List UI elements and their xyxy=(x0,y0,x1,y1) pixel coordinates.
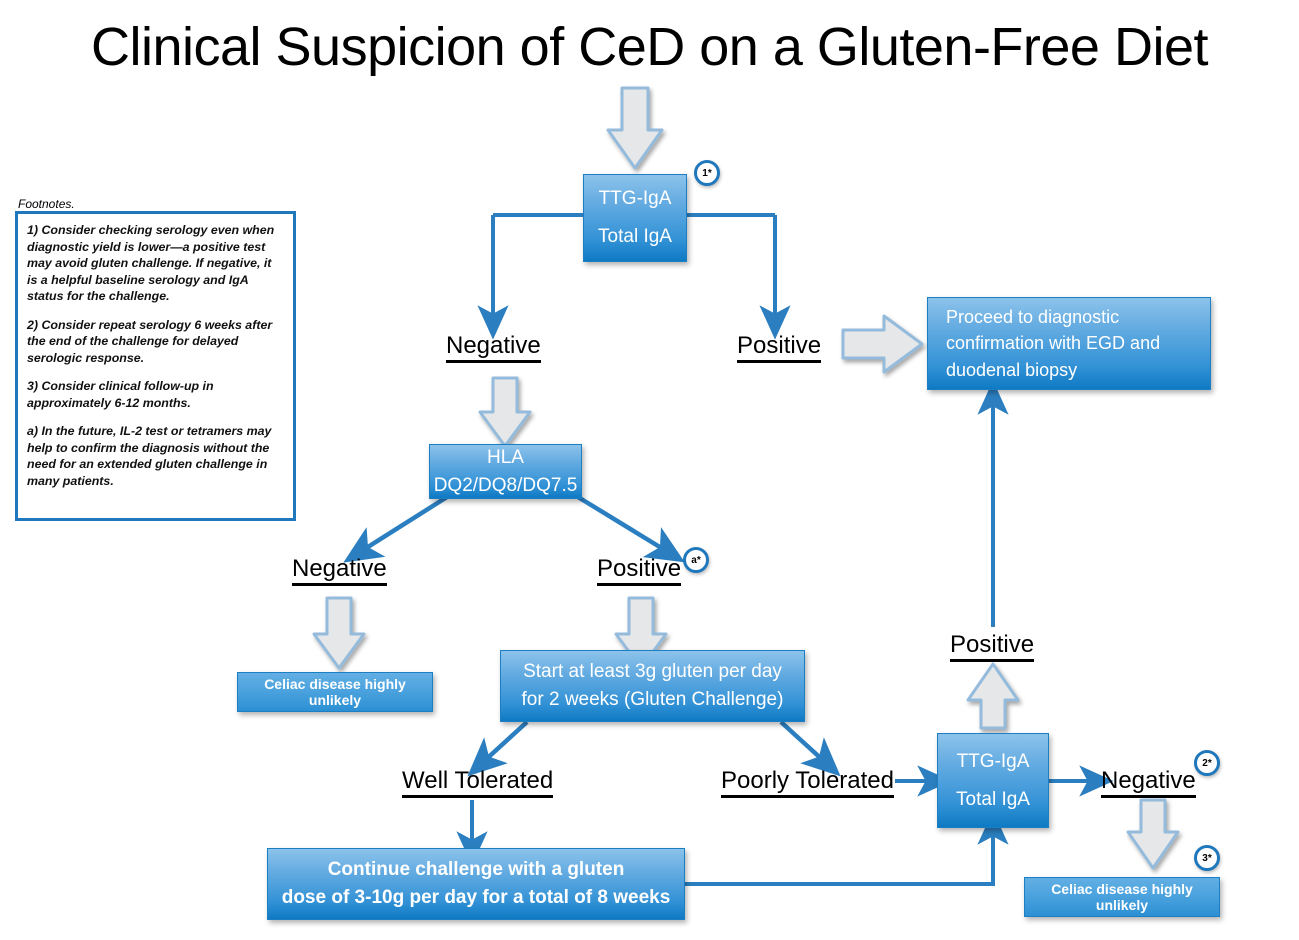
block-arrow-negative-to-unlikely-right xyxy=(1128,800,1178,868)
node-challenge-line1: Start at least 3g gluten per day xyxy=(523,658,782,686)
label-ttg-positive: Positive xyxy=(737,333,821,363)
node-challenge-line2: for 2 weeks (Gluten Challenge) xyxy=(522,686,784,714)
footnote-item-3: 3) Consider clinical follow-up in approx… xyxy=(27,378,284,411)
node-ttg-bottom-line2: Total IgA xyxy=(956,786,1030,814)
footnote-item-1: 1) Consider checking serology even when … xyxy=(27,222,284,305)
node-celiac-unlikely-left[interactable]: Celiac disease highly unlikely xyxy=(237,672,433,712)
footnotes-panel: 1) Consider checking serology even when … xyxy=(15,211,296,521)
label-ttg-negative: Negative xyxy=(446,333,541,363)
block-arrow-negative-to-hla xyxy=(480,378,530,446)
node-continue-line1: Continue challenge with a gluten xyxy=(328,856,625,884)
label-well-tolerated: Well Tolerated xyxy=(402,768,553,798)
node-hla-line2: DQ2/DQ8/DQ7.5 xyxy=(434,472,578,500)
page-title: Clinical Suspicion of CeD on a Gluten-Fr… xyxy=(0,16,1299,78)
node-ttg-iga-bottom[interactable]: TTG-IgA Total IgA xyxy=(937,733,1049,828)
node-celiac-unlikely-right[interactable]: Celiac disease highly unlikely xyxy=(1024,877,1220,917)
connector-continue-loop-to-ttg xyxy=(685,828,993,884)
flowchart-canvas: Clinical Suspicion of CeD on a Gluten-Fr… xyxy=(0,0,1299,940)
badge-footnote-1[interactable]: 1* xyxy=(694,160,720,186)
node-proceed-egd[interactable]: Proceed to diagnostic confirmation with … xyxy=(927,297,1211,390)
node-ttg-top-line2: Total IgA xyxy=(598,223,672,251)
label-post-negative: Negative xyxy=(1101,768,1196,798)
footnotes-caption: Footnotes. xyxy=(18,197,75,211)
block-arrow-title-to-ttg xyxy=(608,88,662,168)
block-arrow-hlaneg-to-unlikely xyxy=(314,598,364,668)
badge-footnote-3[interactable]: 3* xyxy=(1194,845,1220,871)
label-hla-negative: Negative xyxy=(292,556,387,586)
badge-footnote-a[interactable]: a* xyxy=(683,547,709,573)
label-post-positive: Positive xyxy=(950,632,1034,662)
node-ttg-iga-top[interactable]: TTG-IgA Total IgA xyxy=(583,174,687,262)
label-poorly-tolerated: Poorly Tolerated xyxy=(721,768,894,798)
node-gluten-challenge[interactable]: Start at least 3g gluten per day for 2 w… xyxy=(500,650,805,722)
node-egd-line2: confirmation with EGD and xyxy=(946,330,1160,356)
node-egd-line3: duodenal biopsy xyxy=(946,357,1077,383)
footnote-item-a: a) In the future, IL-2 test or tetramers… xyxy=(27,423,284,489)
connector-challenge-branches xyxy=(482,722,826,763)
block-arrow-positive-to-egd xyxy=(843,316,922,372)
node-continue-challenge[interactable]: Continue challenge with a gluten dose of… xyxy=(267,848,685,920)
block-arrow-ttgbottom-to-positive xyxy=(968,664,1018,728)
connector-hla-branches xyxy=(360,497,668,552)
footnote-item-2: 2) Consider repeat serology 6 weeks afte… xyxy=(27,317,284,367)
label-hla-positive: Positive xyxy=(597,556,681,586)
node-ttg-top-line1: TTG-IgA xyxy=(599,185,672,213)
node-hla[interactable]: HLA DQ2/DQ8/DQ7.5 xyxy=(429,444,582,499)
node-ttg-bottom-line1: TTG-IgA xyxy=(957,748,1030,776)
node-hla-line1: HLA xyxy=(487,444,524,472)
node-continue-line2: dose of 3-10g per day for a total of 8 w… xyxy=(282,884,671,912)
node-egd-line1: Proceed to diagnostic xyxy=(946,304,1119,330)
badge-footnote-2[interactable]: 2* xyxy=(1194,750,1220,776)
